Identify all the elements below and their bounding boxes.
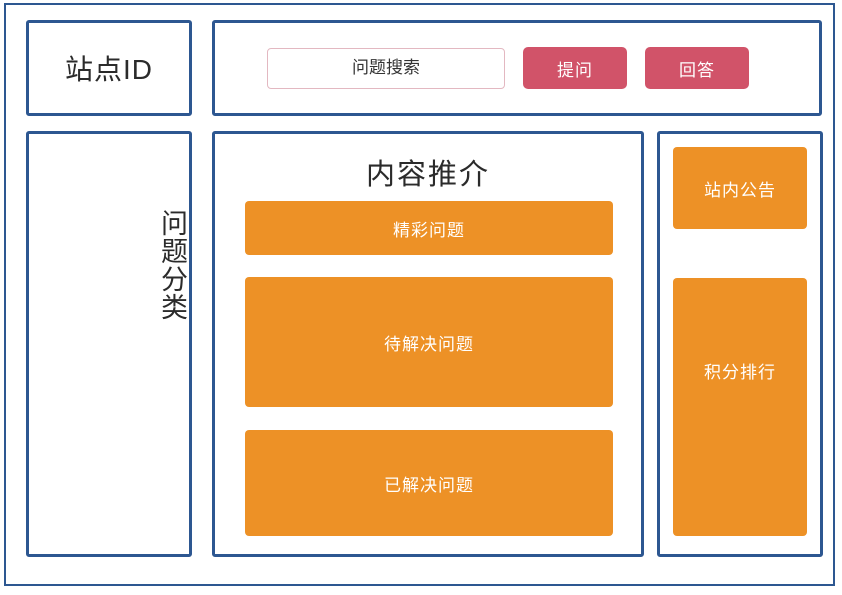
question-category-title: 问题分类 xyxy=(29,190,189,340)
answer-question-button[interactable]: 回答 xyxy=(645,47,749,89)
site-id-label: 站点ID xyxy=(65,48,153,88)
content-recommendation-panel: 内容推介 精彩问题 待解决问题 已解决问题 xyxy=(212,131,644,557)
header-controls-row: 提问 回答 xyxy=(215,23,819,113)
search-input[interactable] xyxy=(267,48,505,89)
content-recommendation-title: 内容推介 xyxy=(215,151,641,193)
question-category-panel[interactable]: 问题分类 xyxy=(26,131,192,557)
right-sidebar-panel: 站内公告 积分排行 xyxy=(657,131,823,557)
pending-questions-card[interactable]: 待解决问题 xyxy=(245,277,613,407)
site-announcement-card[interactable]: 站内公告 xyxy=(673,147,807,229)
ask-question-button[interactable]: 提问 xyxy=(523,47,627,89)
site-id-panel: 站点ID xyxy=(26,20,192,116)
wireframe-page: 站点ID 提问 回答 问题分类 内容推介 精彩问题 待解决问题 已解决问题 站内… xyxy=(0,0,842,595)
header-panel: 提问 回答 xyxy=(212,20,822,116)
featured-questions-card[interactable]: 精彩问题 xyxy=(245,201,613,255)
points-ranking-card[interactable]: 积分排行 xyxy=(673,278,807,536)
solved-questions-card[interactable]: 已解决问题 xyxy=(245,430,613,536)
